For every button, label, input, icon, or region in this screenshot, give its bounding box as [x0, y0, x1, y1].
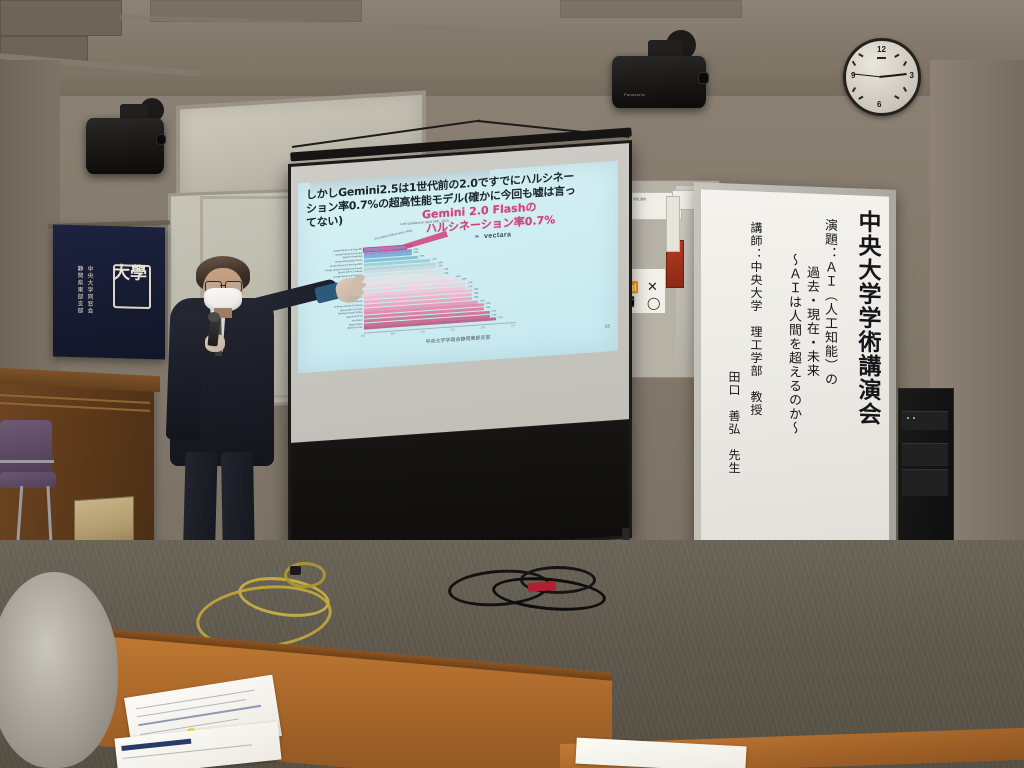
clock-hour-3: 3	[910, 71, 914, 80]
clock-hour-9: 9	[851, 71, 855, 80]
clock-tick	[852, 61, 856, 66]
clock-hour-hand	[879, 73, 907, 78]
clock-tick	[903, 87, 907, 92]
sign-topic-line2: 過去・現在・未来	[804, 265, 819, 566]
chart-x-tick: 0.0	[361, 335, 365, 338]
chair-frame-bar	[0, 460, 54, 463]
paper-text-line	[137, 699, 246, 717]
chart-x-tick: 1.5	[451, 328, 455, 331]
clock-tick	[903, 61, 907, 66]
lecture-hall-photo: 12 3 6 9 Panasonic 大學 中	[0, 0, 1024, 768]
chair-back-left[interactable]	[0, 420, 52, 476]
slide-page-number: 16	[604, 323, 610, 329]
projector-lens	[698, 72, 709, 84]
chart-x-tick: 2.0	[481, 326, 485, 329]
ceiling-panel	[0, 0, 122, 36]
door-notice-text: 非常口案内	[633, 198, 646, 201]
ceiling-panel	[560, 0, 742, 18]
rack-unit	[902, 469, 948, 496]
close-icon: ✕	[647, 279, 658, 295]
wall-clock: 12 3 6 9	[843, 38, 921, 116]
rack-status-led	[913, 417, 915, 419]
clock-tick	[894, 54, 899, 58]
chart-x-tick: 0.5	[391, 332, 395, 335]
projector-lens	[156, 134, 166, 145]
chart-bar-label: OpenAI o1-mini	[347, 327, 362, 331]
microphone-head	[208, 312, 220, 322]
rack-unit	[902, 443, 948, 466]
presenter-finger	[352, 290, 364, 296]
projector-body	[86, 118, 164, 174]
banner-text-line2: 静岡県東部支部	[75, 265, 84, 339]
presenter-left-arm	[166, 311, 204, 440]
presenter-glasses-bridge	[220, 285, 225, 286]
sign-title: 中央大学学術講演会	[854, 209, 881, 592]
slide-content: しかしGemini2.5は1世代前の2.0ですでにハルシネー ション率0.7%の…	[298, 161, 618, 373]
slide-footer-text: 中央大学学員会静岡東部支部	[298, 325, 618, 354]
banner-emblem: 大學	[113, 264, 147, 282]
clock-tick	[858, 54, 863, 58]
clock-minute-hand	[853, 73, 879, 77]
clock-tick	[894, 96, 899, 100]
paper-header-band	[121, 739, 191, 751]
sign-speaker-line: 講師：中央大学 理工学部 教授	[749, 221, 763, 522]
audience-head-foreground	[0, 572, 118, 768]
sign-topic-line3: ～ＡＩは人間を超えるのか～	[786, 253, 801, 574]
projector-body: Panasonic	[612, 56, 706, 108]
projector-brand-label: Panasonic	[624, 92, 645, 97]
chart-bar-value: 2.2%	[498, 317, 503, 320]
cable-connector	[290, 566, 301, 575]
clock-center-mark	[877, 57, 886, 59]
door-side-strip	[666, 196, 680, 252]
chart-x-tick: 1.0	[421, 330, 425, 333]
paper-text-line	[138, 705, 261, 726]
wall-banner-navy: 大學 中央大学同窓会 静岡県東部支部	[53, 225, 165, 360]
sign-speaker-name: 田口 善弘 先生	[727, 370, 741, 531]
rack-status-led	[907, 417, 909, 419]
sign-topic-label: 演題：ＡＩ（人工知能）の	[822, 218, 837, 559]
clock-tick	[852, 87, 856, 92]
clock-hour-6: 6	[877, 100, 881, 109]
clock-tick	[858, 96, 863, 100]
circle-icon: ◯	[647, 296, 660, 310]
banner-text-line1: 中央大学同窓会	[85, 265, 94, 339]
screen-lower-black	[291, 420, 629, 559]
clock-hour-12: 12	[877, 45, 886, 54]
power-strip	[528, 581, 557, 592]
hallucination-rate-chart: Google Gemini-2.0-Flash-0010.7%Google Ge…	[364, 238, 514, 330]
rack-unit	[902, 411, 948, 430]
chart-x-tick: 2.5	[511, 324, 515, 327]
